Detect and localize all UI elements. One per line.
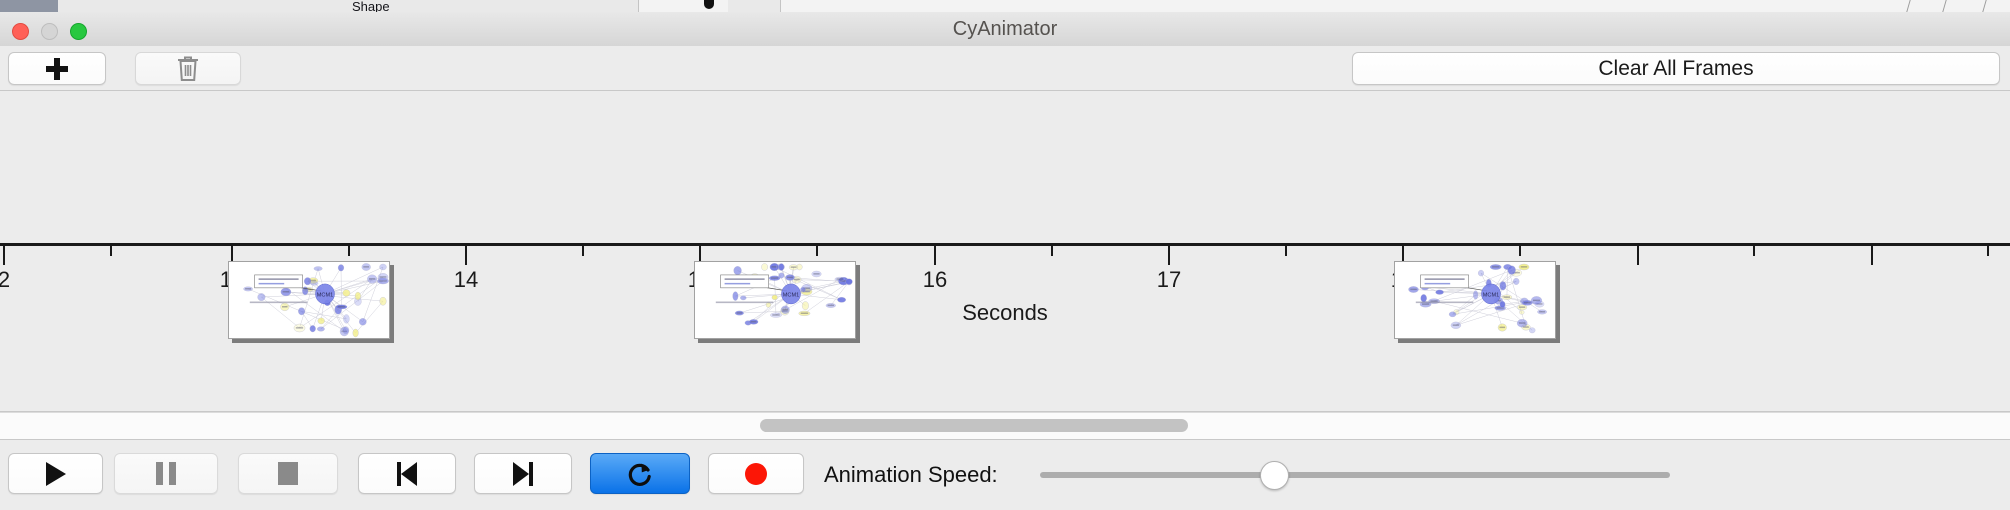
axis-tick-minor xyxy=(582,246,584,256)
timeline-panel[interactable]: Seconds 2131415161718MCM1MCM1MCM1 xyxy=(0,91,2010,412)
timeline-axis-line xyxy=(0,243,2010,246)
axis-tick-minor xyxy=(1051,246,1053,256)
skip-to-start-icon xyxy=(397,462,417,486)
pause-button[interactable] xyxy=(114,453,218,494)
frame-thumbnail-2[interactable]: MCM1 xyxy=(694,261,856,339)
record-icon xyxy=(745,463,767,485)
trash-icon xyxy=(176,55,200,82)
skip-to-end-icon xyxy=(513,462,533,486)
background-window-segment xyxy=(188,0,251,12)
loop-icon xyxy=(626,460,654,488)
axis-tick-label: 17 xyxy=(1157,267,1181,293)
frame-thumbnail-1[interactable]: MCM1 xyxy=(228,261,390,339)
skip-to-start-button[interactable] xyxy=(358,453,456,494)
timeline-scrollbar[interactable] xyxy=(0,412,2010,440)
axis-tick-minor xyxy=(1285,246,1287,256)
plus-icon xyxy=(46,58,68,80)
play-button[interactable] xyxy=(8,453,103,494)
axis-tick-label: 16 xyxy=(923,267,947,293)
axis-tick-major xyxy=(3,246,5,265)
window-title: CyAnimator xyxy=(0,12,2010,46)
background-window-segment xyxy=(308,0,509,12)
background-window-segment xyxy=(508,0,639,12)
clear-all-frames-label: Clear All Frames xyxy=(1598,57,1753,81)
axis-tick-minor xyxy=(348,246,350,256)
pause-icon xyxy=(156,462,176,485)
play-icon xyxy=(46,462,66,486)
animation-speed-slider[interactable] xyxy=(1040,472,1670,478)
delete-frame-button[interactable] xyxy=(135,52,241,85)
frame-thumbnail-3[interactable]: MCM1 xyxy=(1394,261,1556,339)
timeline-scrollbar-thumb[interactable] xyxy=(760,419,1188,432)
axis-tick-major xyxy=(1637,246,1639,265)
toolbar: Clear All Frames xyxy=(0,46,2010,91)
svg-text:MCM1: MCM1 xyxy=(783,292,799,298)
add-frame-button[interactable] xyxy=(8,52,106,85)
background-window-divider xyxy=(1906,0,1910,12)
playback-controls: Animation Speed: xyxy=(0,439,2010,510)
cyanimator-window: Shape CyAnimator Clear All Frames xyxy=(0,0,2010,510)
background-window-dark-segment xyxy=(0,0,58,12)
animation-speed-slider-thumb[interactable] xyxy=(1260,461,1289,490)
axis-tick-major xyxy=(465,246,467,265)
axis-tick-minor xyxy=(816,246,818,256)
axis-tick-major xyxy=(1168,246,1170,265)
axis-tick-minor xyxy=(1519,246,1521,256)
background-window-divider xyxy=(1942,0,1946,12)
svg-text:MCM1: MCM1 xyxy=(1483,292,1499,298)
animation-speed-slider-track[interactable] xyxy=(1040,472,1670,478)
loop-button[interactable] xyxy=(590,453,690,494)
background-window-segment xyxy=(250,0,309,12)
record-button[interactable] xyxy=(708,453,804,494)
background-window-segment xyxy=(58,0,189,12)
axis-tick-major xyxy=(1871,246,1873,265)
axis-tick-label: 14 xyxy=(454,267,478,293)
axis-tick-minor xyxy=(110,246,112,256)
background-window-notch xyxy=(704,0,714,9)
svg-text:MCM1: MCM1 xyxy=(317,292,333,298)
stop-button[interactable] xyxy=(238,453,338,494)
clear-all-frames-button[interactable]: Clear All Frames xyxy=(1352,52,2000,85)
timeline-track[interactable]: Seconds 2131415161718MCM1MCM1MCM1 xyxy=(0,91,2010,411)
axis-tick-minor xyxy=(1987,246,1989,256)
axis-tick-minor xyxy=(1753,246,1755,256)
title-bar: CyAnimator xyxy=(0,12,2010,47)
background-window-segment xyxy=(728,0,781,12)
axis-tick-major xyxy=(934,246,936,265)
background-window-divider xyxy=(1982,0,1986,12)
stop-icon xyxy=(278,462,298,485)
animation-speed-label: Animation Speed: xyxy=(824,462,998,488)
skip-to-end-button[interactable] xyxy=(474,453,572,494)
axis-tick-label: 2 xyxy=(0,267,10,293)
